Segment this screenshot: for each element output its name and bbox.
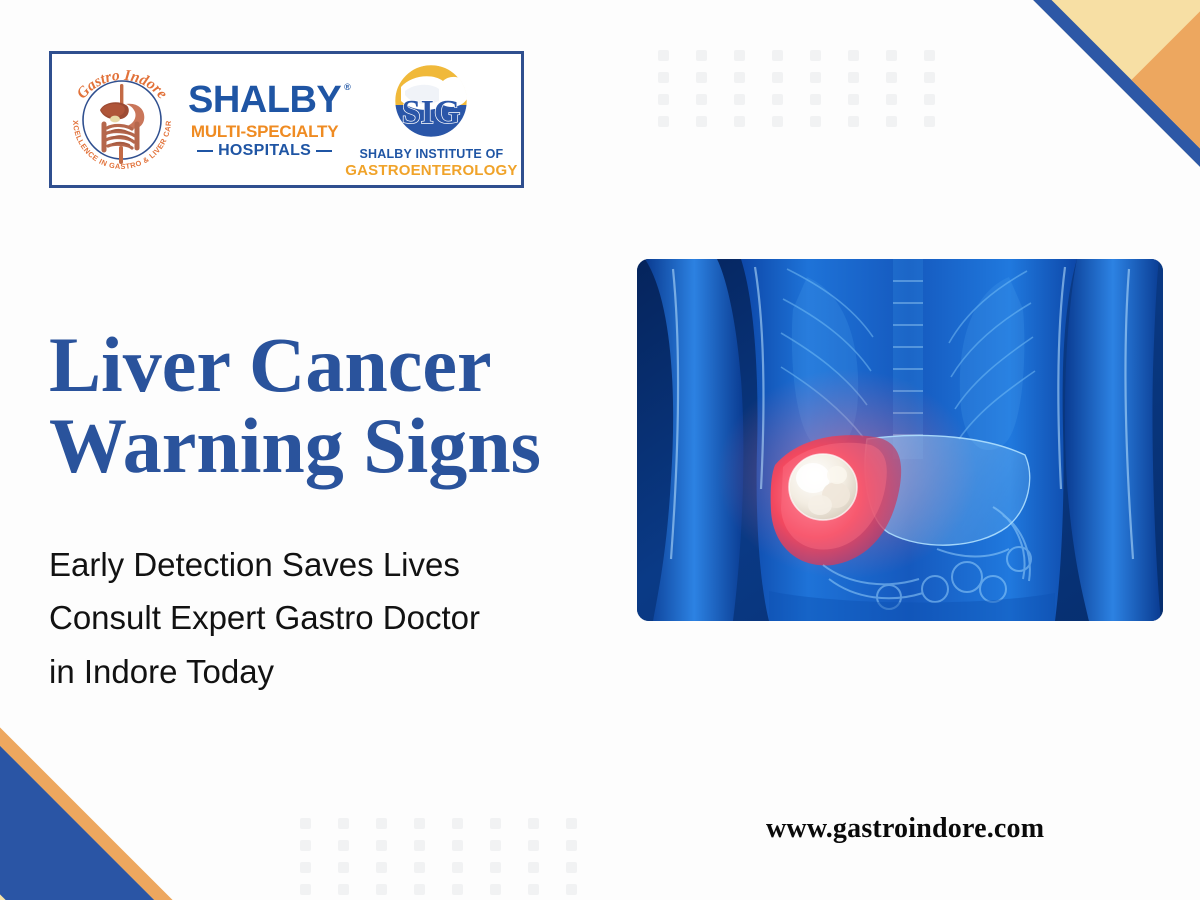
dot bbox=[886, 72, 897, 83]
dot bbox=[658, 72, 669, 83]
shalby-wordmark-text: SHALBY bbox=[188, 79, 341, 121]
dot bbox=[414, 884, 425, 895]
dot bbox=[300, 884, 311, 895]
dot bbox=[734, 72, 745, 83]
page-subtitle-line-2: Consult Expert Gastro Doctor bbox=[49, 591, 649, 644]
dot bbox=[490, 884, 501, 895]
shalby-category: HOSPITALS bbox=[218, 143, 311, 159]
dot bbox=[338, 884, 349, 895]
shalby-category-row: HOSPITALS bbox=[188, 143, 341, 159]
shalby-tagline: MULTI-SPECIALTY bbox=[188, 123, 341, 140]
dot bbox=[376, 884, 387, 895]
dot bbox=[772, 50, 783, 61]
dot bbox=[338, 840, 349, 851]
top-right-diamond-accent bbox=[1117, 0, 1200, 167]
shalby-hospitals-logo: SHALBY® MULTI-SPECIALTY HOSPITALS bbox=[184, 81, 345, 159]
dot bbox=[696, 72, 707, 83]
dot bbox=[734, 94, 745, 105]
dot bbox=[810, 116, 821, 127]
dot bbox=[528, 840, 539, 851]
sig-monogram: SIG bbox=[402, 94, 461, 131]
dot bbox=[810, 50, 821, 61]
dot bbox=[452, 862, 463, 873]
dot bbox=[924, 94, 935, 105]
shalby-institute-gastroenterology-logo: SIG SHALBY INSTITUTE OF GASTROENTEROLOGY bbox=[345, 61, 517, 178]
shalby-wordmark: SHALBY® bbox=[188, 81, 341, 119]
dot bbox=[338, 862, 349, 873]
dot bbox=[566, 862, 577, 873]
page-title-line-1: Liver Cancer bbox=[49, 325, 649, 405]
dot bbox=[848, 72, 859, 83]
dot bbox=[734, 50, 745, 61]
logo-bar: Gastro Indore EXCELLENCE IN GASTRO & LIV… bbox=[49, 51, 524, 188]
dot bbox=[490, 840, 501, 851]
page-subtitle-line-3: in Indore Today bbox=[49, 645, 649, 698]
dot bbox=[696, 94, 707, 105]
dot bbox=[658, 116, 669, 127]
sig-line-1: SHALBY INSTITUTE OF bbox=[345, 148, 517, 161]
dot bbox=[886, 116, 897, 127]
bottom-left-diamond bbox=[0, 727, 173, 900]
page-title-line-2: Warning Signs bbox=[49, 406, 649, 486]
page-subtitle-line-1: Early Detection Saves Lives bbox=[49, 538, 649, 591]
dot-grid-top bbox=[658, 50, 962, 138]
website-url[interactable]: www.gastroindore.com bbox=[766, 813, 1044, 845]
dot-grid-bottom bbox=[300, 818, 604, 900]
dot bbox=[300, 818, 311, 829]
dot bbox=[886, 50, 897, 61]
dot bbox=[414, 840, 425, 851]
dot bbox=[848, 50, 859, 61]
dot bbox=[848, 116, 859, 127]
dot bbox=[452, 818, 463, 829]
dot bbox=[924, 72, 935, 83]
dot bbox=[528, 862, 539, 873]
dot bbox=[566, 818, 577, 829]
rule-left bbox=[197, 150, 213, 152]
top-right-diamond bbox=[1033, 0, 1200, 167]
bottom-left-diamond-accent bbox=[0, 727, 173, 900]
dot bbox=[848, 94, 859, 105]
dot bbox=[566, 840, 577, 851]
registered-trademark-icon: ® bbox=[344, 83, 350, 92]
dot bbox=[772, 116, 783, 127]
dot bbox=[300, 862, 311, 873]
dot bbox=[696, 50, 707, 61]
sig-line-2: GASTROENTEROLOGY bbox=[345, 163, 517, 178]
page-title: Liver Cancer Warning Signs bbox=[49, 325, 649, 486]
dot bbox=[810, 72, 821, 83]
dot bbox=[924, 50, 935, 61]
dot bbox=[528, 884, 539, 895]
dot bbox=[886, 94, 897, 105]
dot bbox=[810, 94, 821, 105]
dot bbox=[414, 862, 425, 873]
dot bbox=[490, 862, 501, 873]
dot bbox=[376, 840, 387, 851]
dot bbox=[376, 818, 387, 829]
page-subtitle: Early Detection Saves Lives Consult Expe… bbox=[49, 538, 649, 698]
poster-canvas: Gastro Indore EXCELLENCE IN GASTRO & LIV… bbox=[0, 0, 1200, 900]
dot bbox=[696, 116, 707, 127]
dot bbox=[528, 818, 539, 829]
dot bbox=[658, 50, 669, 61]
dot bbox=[376, 862, 387, 873]
dot bbox=[490, 818, 501, 829]
dot bbox=[734, 116, 745, 127]
dot bbox=[414, 818, 425, 829]
dot bbox=[566, 884, 577, 895]
liver-cancer-anatomy-illustration bbox=[637, 259, 1163, 621]
dot bbox=[338, 818, 349, 829]
dot bbox=[772, 94, 783, 105]
dot bbox=[300, 840, 311, 851]
gastro-indore-logo: Gastro Indore EXCELLENCE IN GASTRO & LIV… bbox=[60, 58, 184, 182]
dot bbox=[452, 884, 463, 895]
dot bbox=[658, 94, 669, 105]
dot bbox=[924, 116, 935, 127]
rule-right bbox=[316, 150, 332, 152]
dot bbox=[772, 72, 783, 83]
dot bbox=[452, 840, 463, 851]
